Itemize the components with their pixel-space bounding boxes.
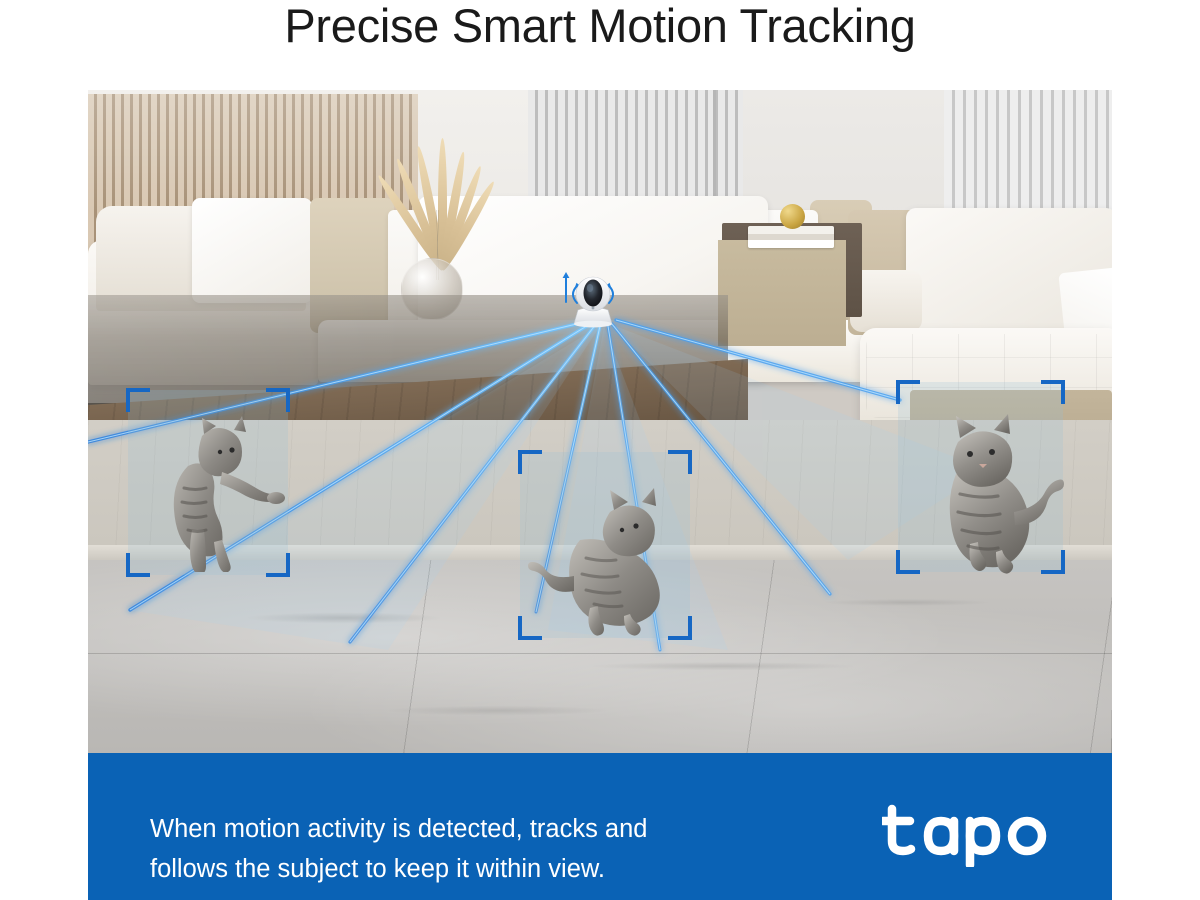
bracket-top-left [518,450,542,474]
bracket-top-right [1041,380,1065,404]
pan-tilt-camera-icon [560,266,626,332]
bracket-top-left [896,380,920,404]
caption-text: When motion activity is detected, tracks… [150,809,850,889]
caption-line-1: When motion activity is detected, tracks… [150,809,850,849]
page-title: Precise Smart Motion Tracking [0,0,1200,56]
scene-photo [88,90,1112,753]
product-feature-card: Precise Smart Motion Tracking [0,0,1200,900]
bracket-top-right [668,450,692,474]
caption-line-2: follows the subject to keep it within vi… [150,849,850,889]
caption-banner: When motion activity is detected, tracks… [88,753,1112,900]
cat-right [908,408,1068,576]
tapo-logo [882,797,1054,867]
cat-center [528,482,693,638]
cat-left [136,402,296,572]
